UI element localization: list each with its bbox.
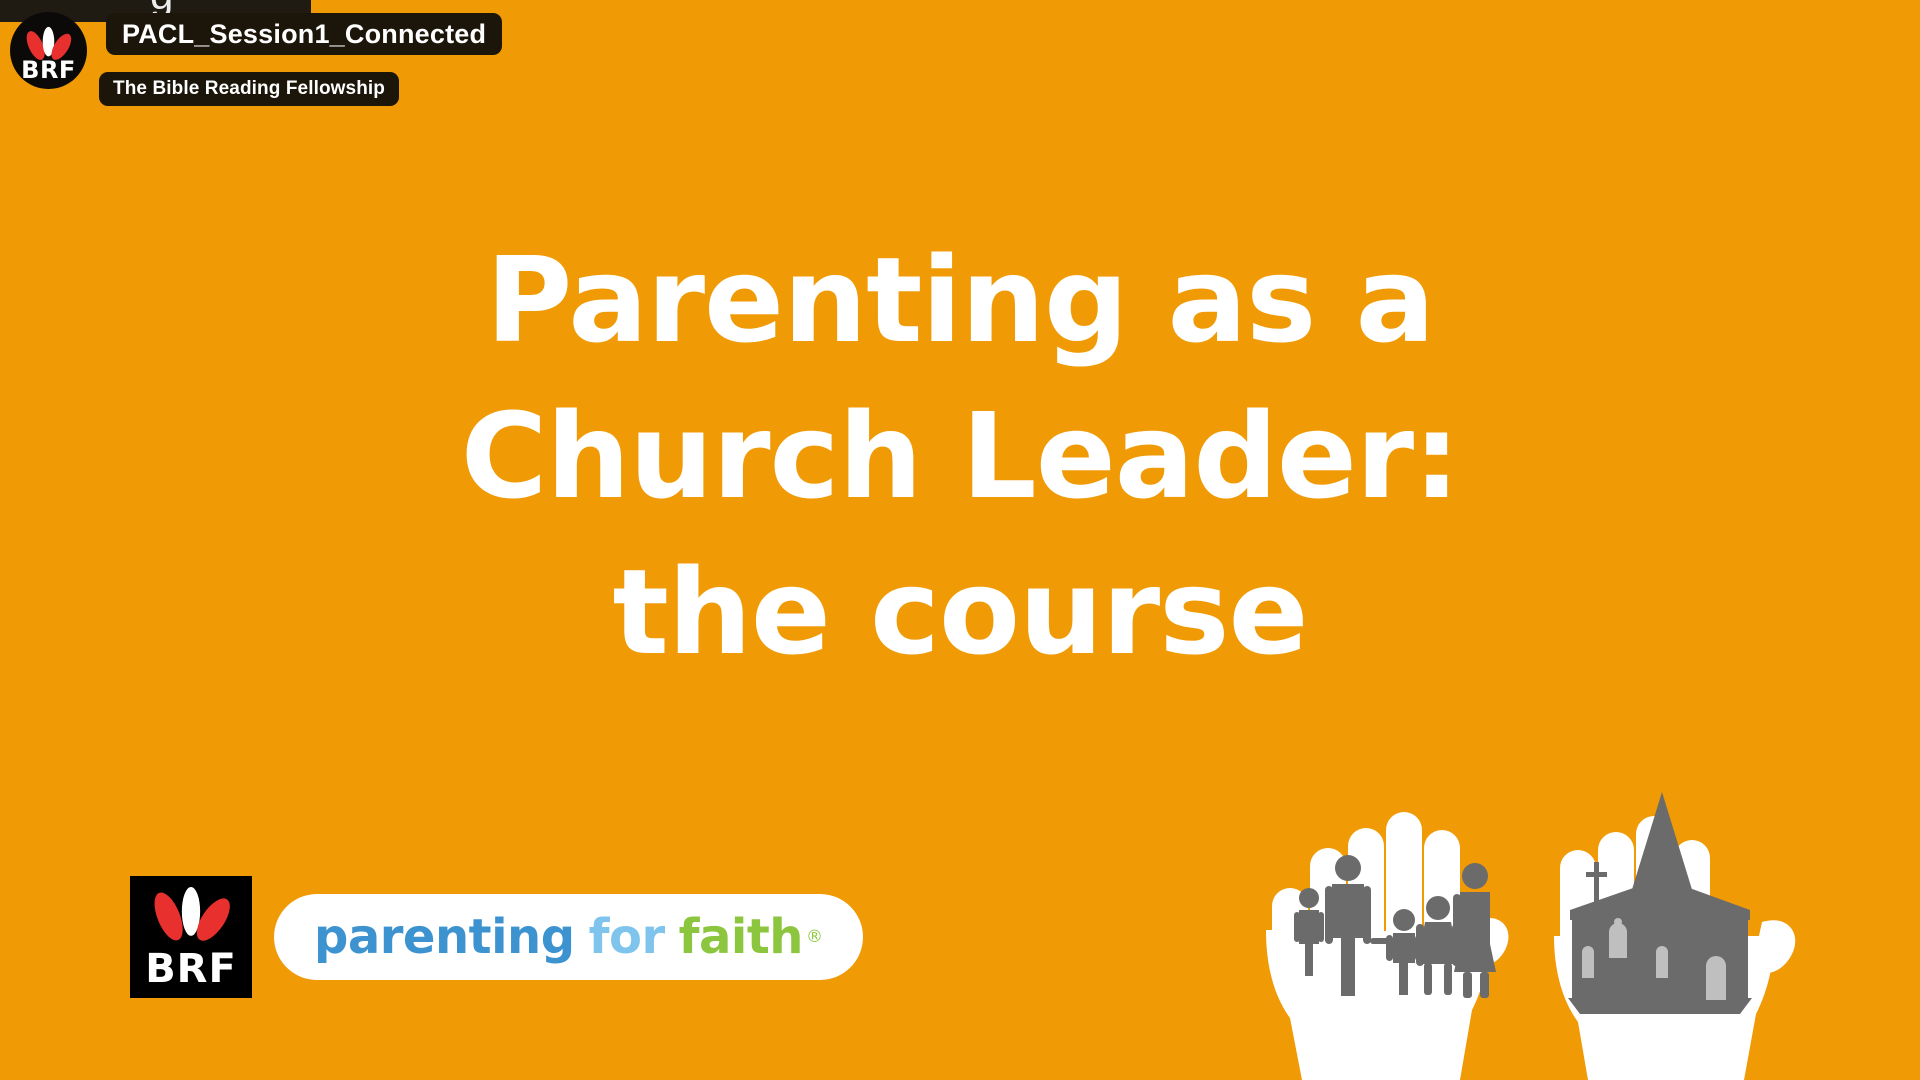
pff-word-parenting: parenting — [314, 912, 575, 962]
hands-holding-family-and-church-illustration — [1264, 770, 1804, 1080]
avatar[interactable]: BRF — [10, 12, 87, 89]
session-name-chip: PACL_Session1_Connected — [106, 13, 502, 55]
brf-petals-icon — [10, 25, 87, 55]
brf-logo-label: BRF — [130, 948, 252, 990]
title-line-1: Parenting as a — [0, 222, 1920, 378]
brf-logo: BRF — [130, 876, 252, 998]
organization-name-chip: The Bible Reading Fellowship — [99, 72, 399, 106]
brf-petals-icon — [130, 886, 252, 942]
title-line-3: the course — [0, 534, 1920, 690]
avatar-label: BRF — [10, 58, 87, 83]
parenting-for-faith-logo: parenting for faith ® — [274, 894, 863, 980]
pff-word-for: for — [589, 912, 665, 962]
presentation-slide: Parenting as a Church Leader: the course… — [0, 0, 1920, 1080]
church-silhouette — [1568, 792, 1752, 1014]
pff-word-faith: faith — [679, 912, 803, 962]
slide-title: Parenting as a Church Leader: the course — [0, 222, 1920, 690]
registered-trademark-icon: ® — [806, 929, 823, 946]
title-line-2: Church Leader: — [0, 378, 1920, 534]
slide-logo-row: BRF parenting for faith ® — [130, 876, 863, 998]
